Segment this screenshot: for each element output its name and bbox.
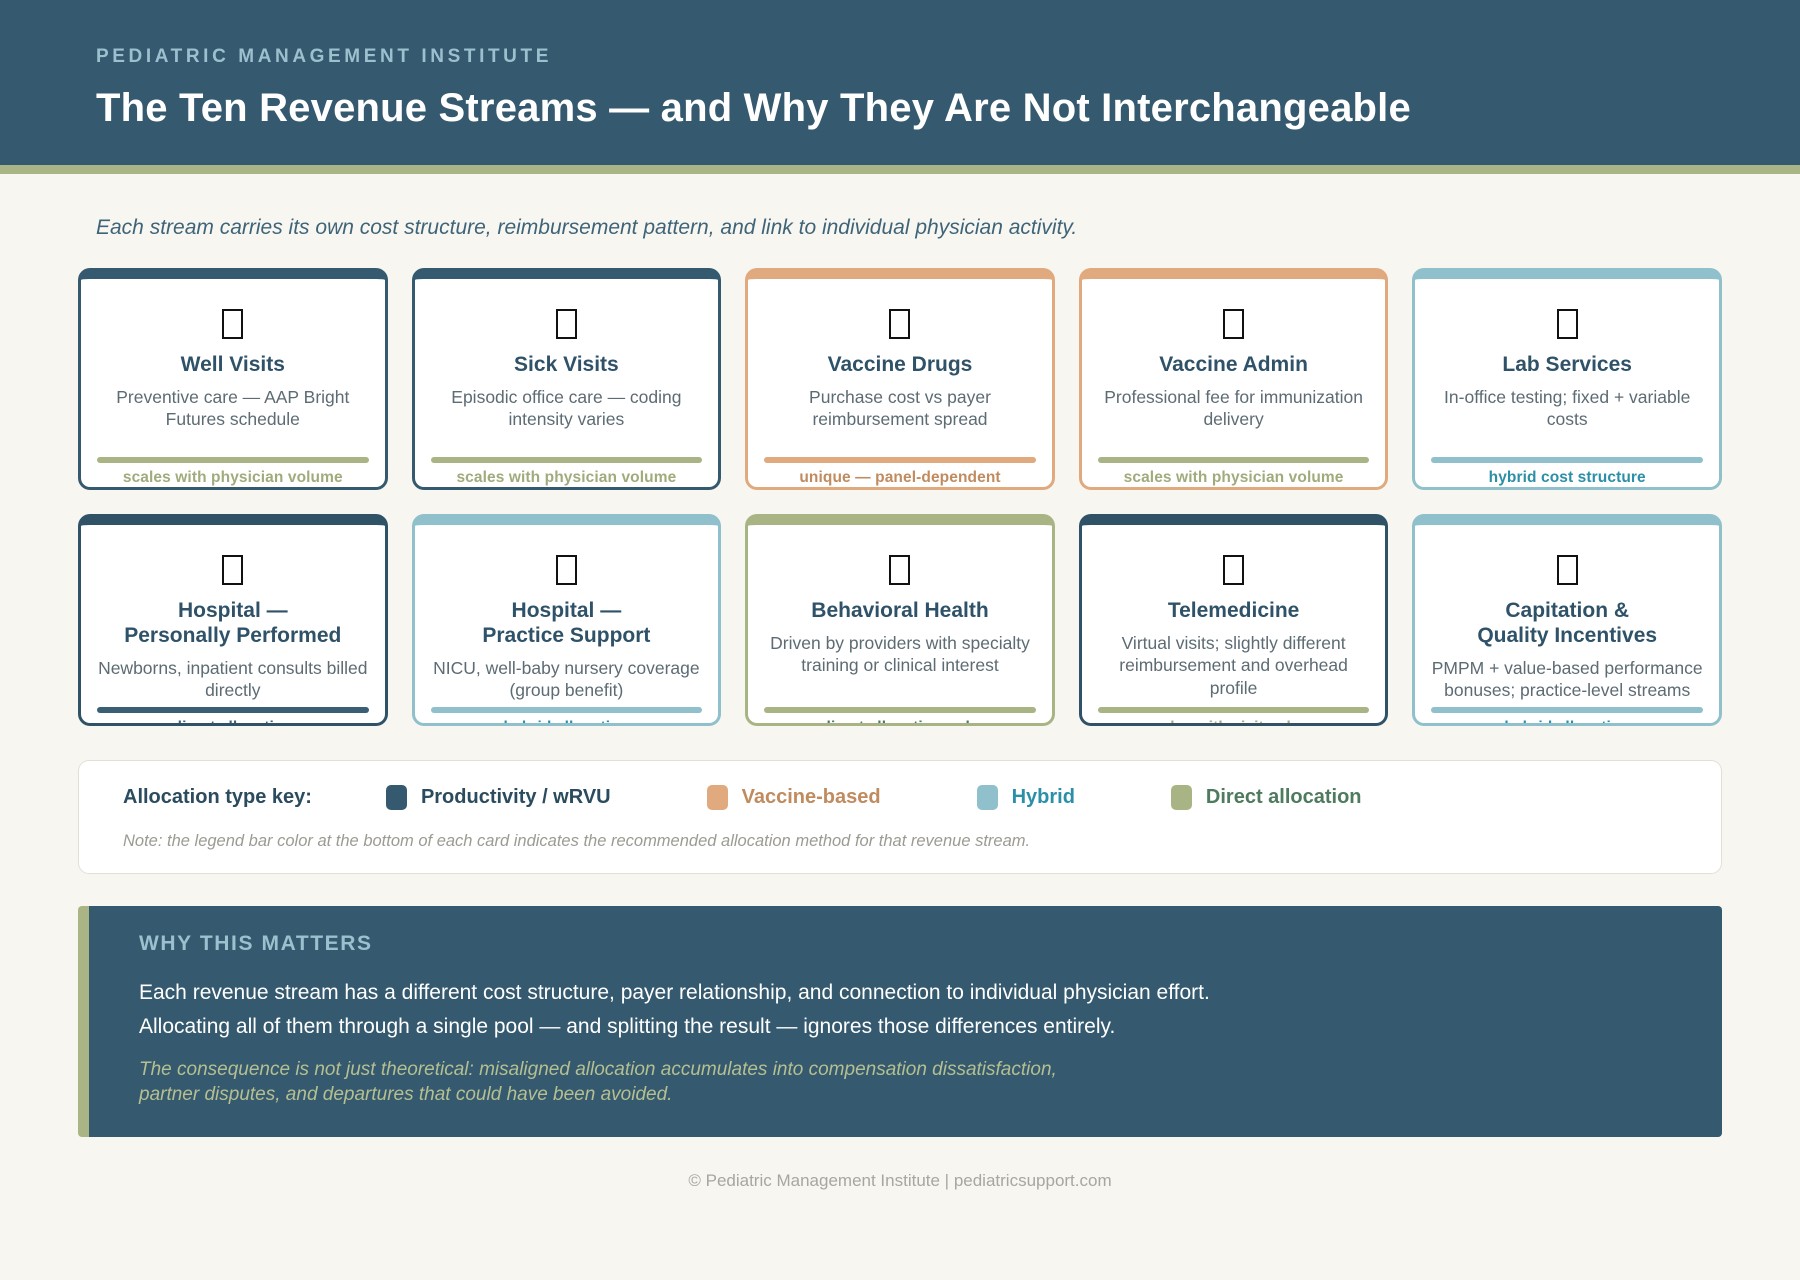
revenue-stream-card[interactable]: Capitation &Quality IncentivesPMPM + val… [1412, 514, 1722, 726]
allocation-footer-label: direct allocation [97, 719, 369, 726]
why-italic-2: partner disputes, and departures that co… [139, 1083, 1672, 1108]
legend-item: Hybrid [977, 785, 1075, 810]
missing-glyph-box [1223, 309, 1244, 339]
allocation-footer-label: scales with visit volume [1098, 719, 1370, 726]
revenue-stream-card[interactable]: Vaccine DrugsPurchase cost vs payer reim… [745, 268, 1055, 490]
card-title: Lab Services [1431, 353, 1703, 378]
card-description: NICU, well-baby nursery coverage (group … [431, 657, 703, 702]
legend-swatch [1171, 785, 1192, 810]
why-kicker: WHY THIS MATTERS [139, 932, 1672, 956]
legend-item-list: Productivity / wRVUVaccine-basedHybridDi… [386, 785, 1362, 810]
baby-icon [431, 551, 703, 589]
syringe-icon [764, 305, 1036, 343]
why-italic-1: The consequence is not just theoretical:… [139, 1058, 1672, 1083]
allocation-footer-label: hybrid allocation [431, 719, 703, 726]
card-footer: hybrid cost structure [1431, 457, 1703, 487]
legend-label: Direct allocation [1206, 786, 1362, 809]
allocation-footer-label: scales with physician volume [431, 469, 703, 487]
allocation-footer-label: scales with physician volume [1098, 469, 1370, 487]
allocation-color-bar [1431, 457, 1703, 463]
page-footer: © Pediatric Management Institute | pedia… [78, 1137, 1722, 1211]
allocation-footer-label: direct allocation only [764, 719, 1036, 726]
legend-item: Direct allocation [1171, 785, 1362, 810]
legend-items-row: Allocation type key: Productivity / wRVU… [123, 785, 1677, 810]
missing-glyph-box [1557, 309, 1578, 339]
card-title: Well Visits [97, 353, 369, 378]
legend-label: Hybrid [1012, 786, 1075, 809]
card-description: Episodic office care — coding intensity … [431, 386, 703, 431]
flask-icon [1431, 305, 1703, 343]
card-title: Behavioral Health [764, 599, 1036, 624]
allocation-color-bar [1098, 457, 1370, 463]
content-area: Each stream carries its own cost structu… [0, 174, 1800, 1280]
shield-check-icon [1098, 305, 1370, 343]
legend-swatch [707, 785, 728, 810]
card-footer: scales with physician volume [1098, 457, 1370, 487]
allocation-color-bar [97, 457, 369, 463]
card-description: Virtual visits; slightly different reimb… [1098, 632, 1370, 699]
allocation-color-bar [97, 707, 369, 713]
card-description: Newborns, inpatient consults billed dire… [97, 657, 369, 702]
missing-glyph-box [222, 309, 243, 339]
allocation-footer-label: hybrid allocation [1431, 719, 1703, 726]
card-footer: scales with visit volume [1098, 707, 1370, 726]
legend-item: Vaccine-based [707, 785, 881, 810]
brain-icon [764, 551, 1036, 589]
card-title: Hospital —Personally Performed [97, 599, 369, 649]
card-title: Sick Visits [431, 353, 703, 378]
missing-glyph-box [556, 555, 577, 585]
slide-root: PEDIATRIC MANAGEMENT INSTITUTE The Ten R… [0, 0, 1800, 1280]
card-title: Vaccine Admin [1098, 353, 1370, 378]
card-description: Purchase cost vs payer reimbursement spr… [764, 386, 1036, 431]
page-header: PEDIATRIC MANAGEMENT INSTITUTE The Ten R… [0, 0, 1800, 174]
stethoscope-icon [97, 305, 369, 343]
card-footer: direct allocation only [764, 707, 1036, 726]
allocation-footer-label: scales with physician volume [97, 469, 369, 487]
legend-note: Note: the legend bar color at the bottom… [123, 832, 1677, 851]
brand-eyebrow: PEDIATRIC MANAGEMENT INSTITUTE [96, 46, 1704, 68]
why-this-matters-box: WHY THIS MATTERS Each revenue stream has… [78, 906, 1722, 1137]
card-footer: hybrid allocation [431, 707, 703, 726]
card-title: Telemedicine [1098, 599, 1370, 624]
video-call-icon [1098, 551, 1370, 589]
card-footer: hybrid allocation [1431, 707, 1703, 726]
allocation-color-bar [1431, 707, 1703, 713]
revenue-stream-card[interactable]: Sick VisitsEpisodic office care — coding… [412, 268, 722, 490]
card-description: Preventive care — AAP Bright Futures sch… [97, 386, 369, 431]
card-description: Professional fee for immunization delive… [1098, 386, 1370, 431]
legend-title: Allocation type key: [123, 786, 312, 809]
hospital-bed-icon [97, 551, 369, 589]
card-footer: scales with physician volume [97, 457, 369, 487]
allocation-footer-label: hybrid cost structure [1431, 469, 1703, 487]
card-description: In-office testing; fixed + variable cost… [1431, 386, 1703, 431]
card-title: Capitation &Quality Incentives [1431, 599, 1703, 649]
thermometer-icon [431, 305, 703, 343]
revenue-stream-card[interactable]: Well VisitsPreventive care — AAP Bright … [78, 268, 388, 490]
card-footer: direct allocation [97, 707, 369, 726]
legend-label: Productivity / wRVU [421, 786, 611, 809]
missing-glyph-box [556, 309, 577, 339]
card-description: Driven by providers with specialty train… [764, 632, 1036, 677]
card-row-1: Well VisitsPreventive care — AAP Bright … [78, 268, 1722, 490]
missing-glyph-box [889, 309, 910, 339]
allocation-color-bar [431, 457, 703, 463]
card-row-2: Hospital —Personally PerformedNewborns, … [78, 514, 1722, 726]
legend-label: Vaccine-based [742, 786, 881, 809]
card-title: Hospital —Practice Support [431, 599, 703, 649]
allocation-color-bar [1098, 707, 1370, 713]
why-line-1: Each revenue stream has a different cost… [139, 976, 1672, 1010]
card-title: Vaccine Drugs [764, 353, 1036, 378]
legend-swatch [386, 785, 407, 810]
page-title: The Ten Revenue Streams — and Why They A… [96, 86, 1704, 131]
allocation-color-bar [764, 457, 1036, 463]
subtitle: Each stream carries its own cost structu… [96, 216, 1722, 240]
allocation-color-bar [764, 707, 1036, 713]
revenue-stream-card[interactable]: Hospital —Practice SupportNICU, well-bab… [412, 514, 722, 726]
trophy-icon [1431, 551, 1703, 589]
legend-item: Productivity / wRVU [386, 785, 611, 810]
card-footer: scales with physician volume [431, 457, 703, 487]
card-footer: unique — panel-dependent [764, 457, 1036, 487]
revenue-stream-card[interactable]: Behavioral HealthDriven by providers wit… [745, 514, 1055, 726]
revenue-stream-card[interactable]: Lab ServicesIn-office testing; fixed + v… [1412, 268, 1722, 490]
missing-glyph-box [1223, 555, 1244, 585]
allocation-legend: Allocation type key: Productivity / wRVU… [78, 760, 1722, 874]
allocation-footer-label: unique — panel-dependent [764, 469, 1036, 487]
why-line-2: Allocating all of them through a single … [139, 1010, 1672, 1044]
missing-glyph-box [889, 555, 910, 585]
card-description: PMPM + value-based performance bonuses; … [1431, 657, 1703, 702]
revenue-stream-card[interactable]: Vaccine AdminProfessional fee for immuni… [1079, 268, 1389, 490]
missing-glyph-box [1557, 555, 1578, 585]
legend-swatch [977, 785, 998, 810]
missing-glyph-box [222, 555, 243, 585]
allocation-color-bar [431, 707, 703, 713]
revenue-stream-card[interactable]: Hospital —Personally PerformedNewborns, … [78, 514, 388, 726]
revenue-stream-card[interactable]: TelemedicineVirtual visits; slightly dif… [1079, 514, 1389, 726]
